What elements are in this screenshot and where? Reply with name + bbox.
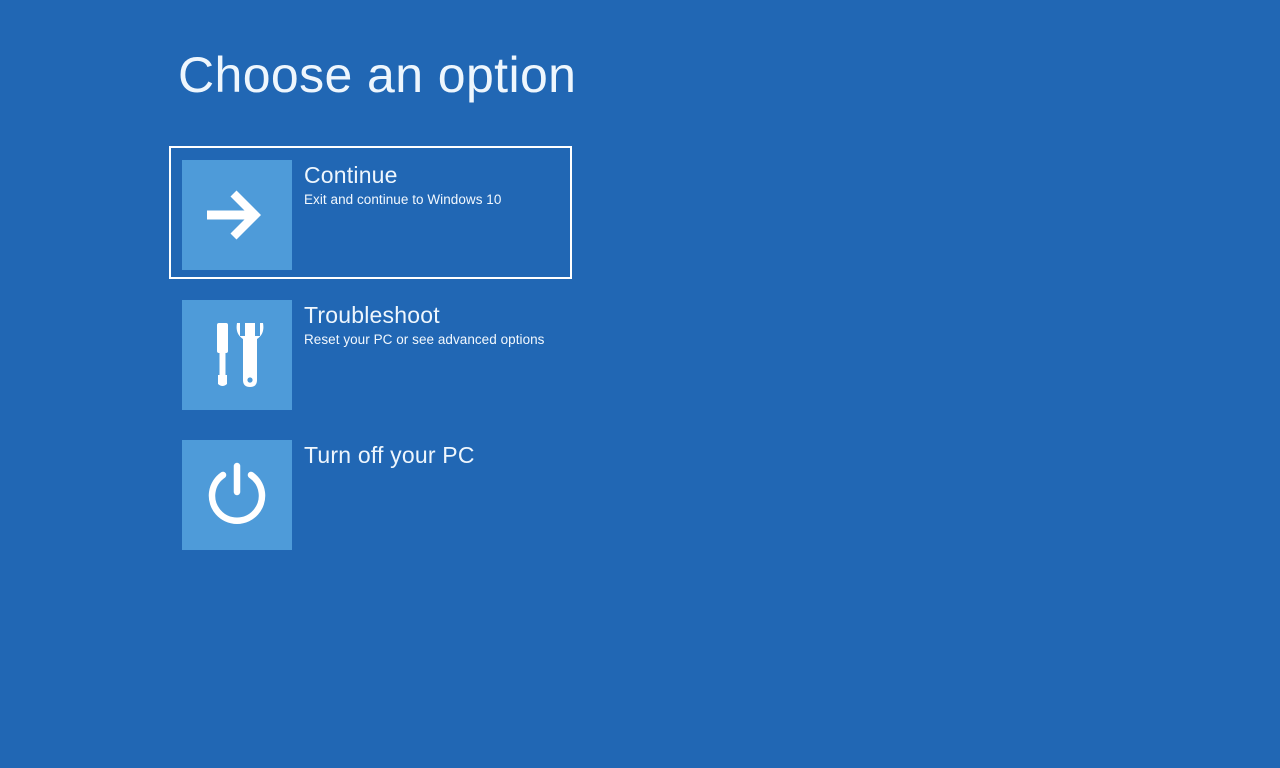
power-icon — [204, 461, 270, 529]
option-continue-subtitle: Exit and continue to Windows 10 — [304, 190, 570, 210]
options-list: Continue Exit and continue to Windows 10 — [169, 146, 869, 566]
recovery-choose-option-screen: Choose an option Continue Exit and conti… — [0, 0, 1280, 768]
option-continue-title: Continue — [304, 160, 570, 190]
option-continue-tile — [182, 160, 292, 270]
arrow-right-icon — [201, 187, 273, 243]
option-troubleshoot-text: Troubleshoot Reset your PC or see advanc… — [292, 300, 570, 350]
option-continue[interactable]: Continue Exit and continue to Windows 10 — [169, 146, 572, 279]
option-troubleshoot[interactable]: Troubleshoot Reset your PC or see advanc… — [169, 286, 572, 419]
option-turn-off-your-pc-tile — [182, 440, 292, 550]
option-turn-off-your-pc[interactable]: Turn off your PC — [169, 426, 572, 559]
option-troubleshoot-tile — [182, 300, 292, 410]
option-continue-text: Continue Exit and continue to Windows 10 — [292, 160, 570, 210]
screwdriver-wrench-icon — [205, 320, 269, 390]
page-title: Choose an option — [178, 45, 576, 105]
option-troubleshoot-title: Troubleshoot — [304, 300, 570, 330]
option-troubleshoot-subtitle: Reset your PC or see advanced options — [304, 330, 570, 350]
option-turn-off-your-pc-text: Turn off your PC — [292, 440, 570, 470]
option-turn-off-your-pc-title: Turn off your PC — [304, 440, 570, 470]
